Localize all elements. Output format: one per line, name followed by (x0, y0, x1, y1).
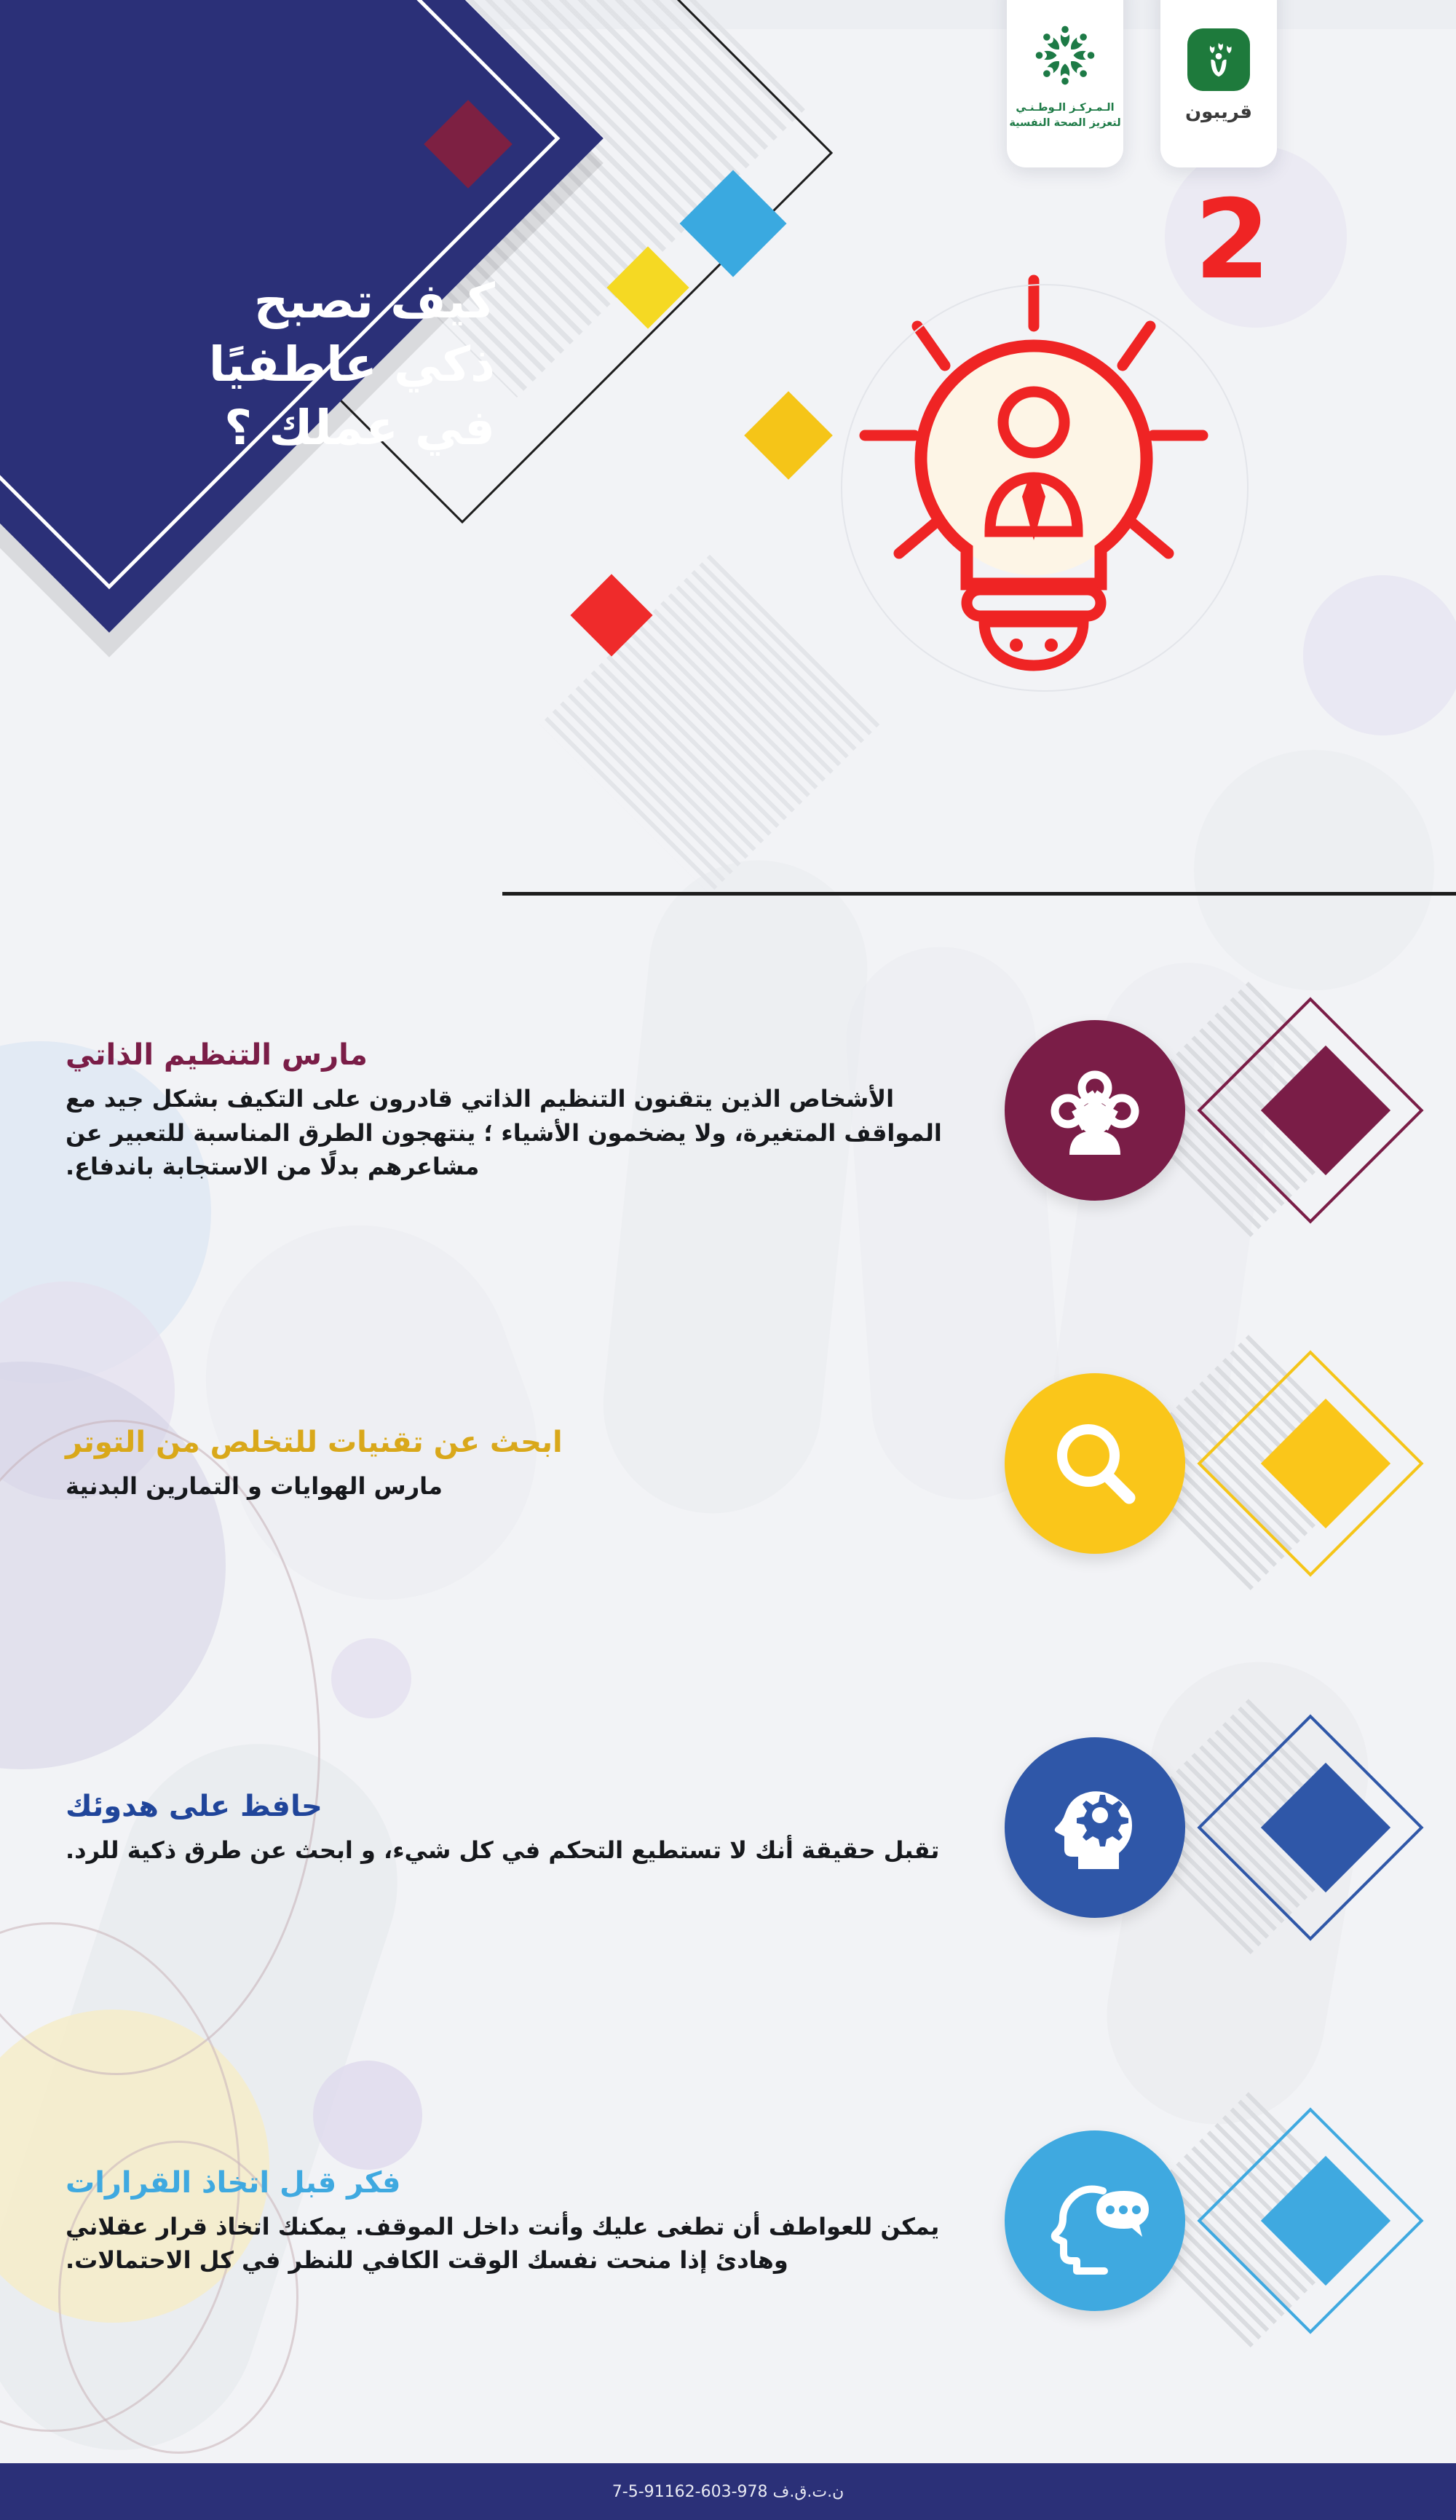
section-3-body: تقبل حقيقة أنك لا تستطيع التحكم في كل شي… (66, 1833, 961, 1867)
section-1-heading: مارس التنظيم الذاتي (66, 1037, 961, 1073)
qareeboon-person-icon (1187, 28, 1250, 91)
section-2-artwork (1005, 1343, 1456, 1584)
title-line-3: في عملك ؟ (44, 396, 495, 459)
section-3-text: حافظ على هدوئك تقبل حقيقة أنك لا تستطيع … (0, 1788, 1005, 1867)
section-1-body: الأشخاص الذين يتقنون التنظيم الذاتي قادر… (66, 1082, 961, 1183)
footer-bar: ن.ت.ق.ف 978-603-91162-5-7 (0, 2463, 1456, 2520)
section-3-heading: حافظ على هدوئك (66, 1788, 961, 1825)
section-2-text: ابحث عن تقنيات للتخلص من التوتر مارس اله… (0, 1424, 1005, 1503)
section-think-before-deciding: فكر قبل اتخاذ القرارات يمكن للعواطف أن ت… (0, 2061, 1456, 2381)
person-network-icon[interactable] (1005, 1020, 1185, 1201)
section-stress-relief: ابحث عن تقنيات للتخلص من التوتر مارس اله… (0, 1332, 1456, 1595)
title-line-1: كيف تصبح (44, 269, 495, 333)
section-4-artwork (1005, 2101, 1456, 2341)
page-title: كيف تصبح ذكي عاطفيًا في عملك ؟ (44, 269, 495, 459)
section-4-heading: فكر قبل اتخاذ القرارات (66, 2165, 961, 2201)
section-1-artwork (1005, 990, 1456, 1231)
national-center-name: الـمـركـز الـوطـنـي لتعزيز الصحة النفسية (1009, 100, 1120, 131)
national-center-starburst-icon (1030, 20, 1100, 93)
section-2-heading: ابحث عن تقنيات للتخلص من التوتر (66, 1424, 961, 1461)
section-1-text: مارس التنظيم الذاتي الأشخاص الذين يتقنون… (0, 1037, 1005, 1183)
title-line-2: ذكي عاطفيًا (44, 333, 495, 396)
header-divider-rule (502, 892, 1456, 896)
lightbulb-person-icon (772, 240, 1281, 823)
footer-isbn-text: ن.ت.ق.ف 978-603-91162-5-7 (612, 2483, 844, 2501)
section-3-artwork (1005, 1707, 1456, 1948)
section-2-body: مارس الهوايات و التمارين البدنية (66, 1469, 961, 1503)
qareeboon-logo-card[interactable]: قريبون (1160, 0, 1277, 167)
section-4-body: يمكن للعواطف أن تطغى عليك وأنت داخل المو… (66, 2210, 961, 2278)
magnifier-icon[interactable] (1005, 1373, 1185, 1554)
section-self-regulation: مارس التنظيم الذاتي الأشخاص الذين يتقنون… (0, 939, 1456, 1281)
section-4-text: فكر قبل اتخاذ القرارات يمكن للعواطف أن ت… (0, 2165, 1005, 2278)
head-speech-bubble-icon[interactable] (1005, 2130, 1185, 2311)
head-gear-icon[interactable] (1005, 1737, 1185, 1918)
national-center-logo-card[interactable]: الـمـركـز الـوطـنـي لتعزيز الصحة النفسية (1007, 0, 1123, 167)
qareeboon-name: قريبون (1185, 101, 1252, 123)
national-center-name-line2: لتعزيز الصحة النفسية (1009, 116, 1120, 131)
national-center-name-line1: الـمـركـز الـوطـنـي (1009, 100, 1120, 116)
section-stay-calm: حافظ على هدوئك تقبل حقيقة أنك لا تستطيع … (0, 1682, 1456, 1973)
infographic-page: كيف تصبح ذكي عاطفيًا في عملك ؟ 2 (0, 0, 1456, 2520)
